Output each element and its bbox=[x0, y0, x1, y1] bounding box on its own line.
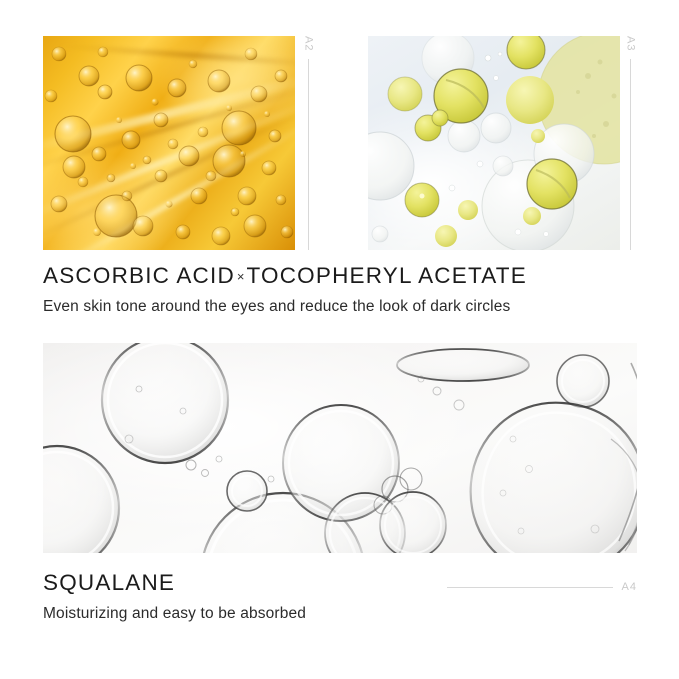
panel-marker-a2-rule bbox=[308, 59, 309, 250]
panel-marker-a3: A3 bbox=[622, 36, 638, 250]
ingredient-image-a3 bbox=[368, 36, 620, 250]
panel-marker-a4-rule bbox=[447, 587, 613, 588]
heading-1-left: ASCORBIC ACID bbox=[43, 263, 235, 288]
clear-bubble-texture bbox=[43, 343, 637, 553]
panel-marker-a3-rule bbox=[630, 59, 631, 250]
panel-marker-a2: A2 bbox=[300, 36, 316, 250]
feature-subheading-2: Moisturizing and easy to be absorbed bbox=[43, 605, 306, 624]
top-image-row bbox=[43, 36, 637, 250]
yellow-droplets bbox=[368, 36, 620, 250]
product-feature-page: A2 A3 ASCORBIC ACID×TOCOPHERYL ACETATE E… bbox=[0, 0, 679, 679]
heading-1-separator: × bbox=[235, 269, 247, 284]
golden-oil-texture bbox=[43, 36, 295, 250]
clear-bubbles bbox=[43, 343, 637, 553]
heading-2-left: SQUALANE bbox=[43, 570, 175, 595]
panel-marker-a4-label: A4 bbox=[622, 582, 637, 593]
feature-subheading-1: Even skin tone around the eyes and reduc… bbox=[43, 298, 527, 317]
golden-bubbles bbox=[43, 36, 295, 250]
yellow-droplet-texture bbox=[368, 36, 620, 250]
panel-marker-a3-label: A3 bbox=[625, 36, 636, 51]
feature-text-block-2: SQUALANE Moisturizing and easy to be abs… bbox=[43, 570, 306, 623]
ingredient-image-a4 bbox=[43, 343, 637, 553]
ingredient-image-a2 bbox=[43, 36, 295, 250]
feature-heading-1: ASCORBIC ACID×TOCOPHERYL ACETATE bbox=[43, 263, 527, 289]
feature-text-block-1: ASCORBIC ACID×TOCOPHERYL ACETATE Even sk… bbox=[43, 263, 527, 316]
feature-heading-2: SQUALANE bbox=[43, 570, 306, 596]
panel-marker-a2-label: A2 bbox=[303, 36, 314, 51]
heading-1-right: TOCOPHERYL ACETATE bbox=[246, 263, 526, 288]
panel-marker-a4: A4 bbox=[447, 582, 637, 593]
